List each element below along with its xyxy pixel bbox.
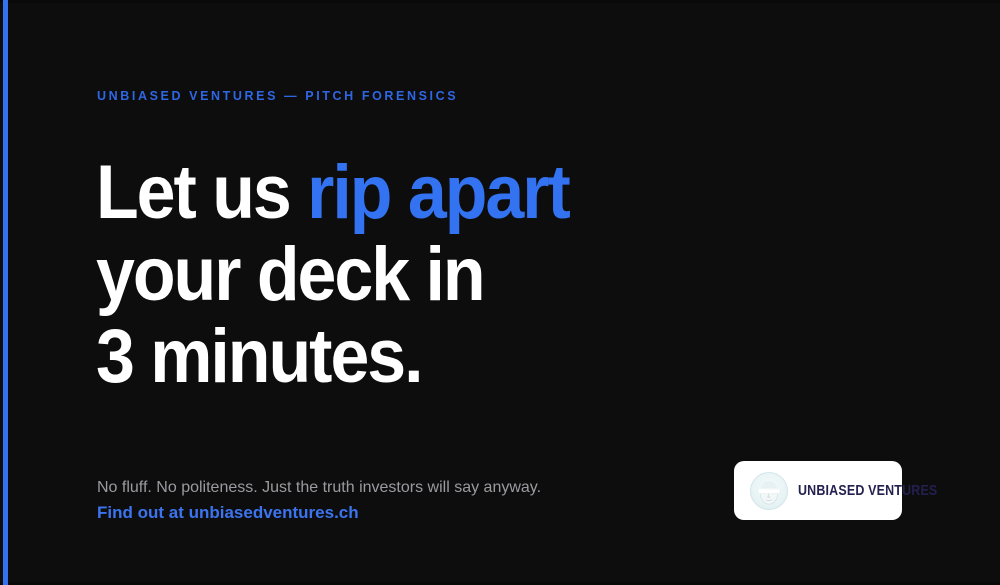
pitch-slide: UNBIASED VENTURES — PITCH FORENSICS Let … [0,0,1000,585]
subhead-text: No fluff. No politeness. Just the truth … [97,478,541,498]
headline-block: Let us rip apart your deck in 3 minutes. [96,152,736,398]
headline-line-1-plain: Let us [96,150,307,235]
cta-link[interactable]: Find out at unbiasedventures.ch [97,502,359,524]
eyebrow-label: UNBIASED VENTURES — PITCH FORENSICS [97,89,458,103]
headline-line-2: your deck in [96,234,685,316]
logo-wordmark: UNBIASED VENTURES [798,483,937,499]
headline-line-1-accent: rip apart [307,150,569,235]
logo-badge[interactable]: UNBIASED VENTURES [734,461,902,520]
headline-line-1: Let us rip apart [96,152,685,234]
headline-line-3: 3 minutes. [96,316,685,398]
top-edge-strip [0,0,1000,3]
left-accent-bar [3,0,8,585]
blindfolded-face-icon [750,472,788,510]
